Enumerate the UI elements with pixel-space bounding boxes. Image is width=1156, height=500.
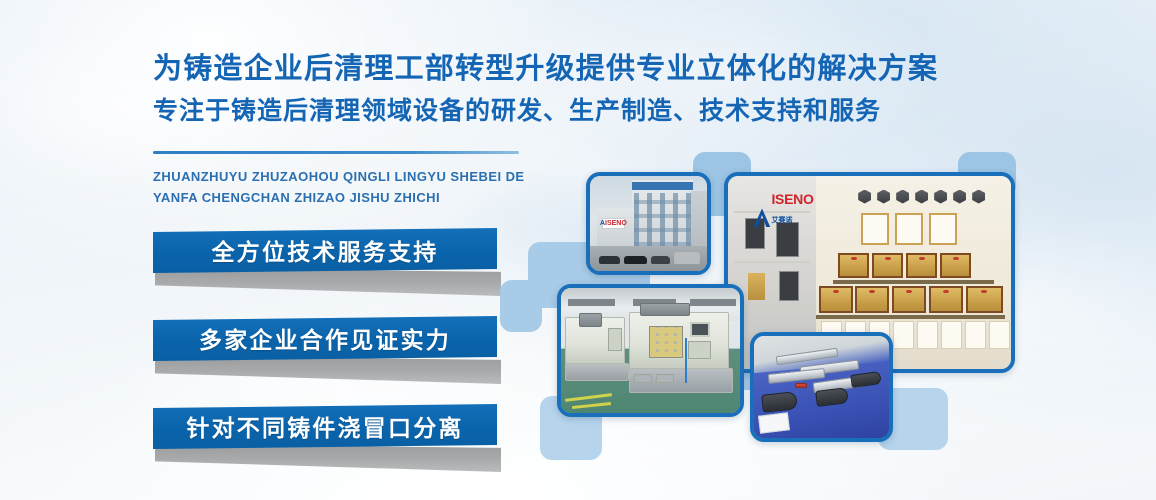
deco-square-far-left: [500, 280, 542, 332]
showroom-display-frame: [779, 271, 799, 302]
feature-bar-2-body[interactable]: 多家企业合作见证实力: [153, 316, 497, 361]
photo-gripper-inner: [754, 336, 889, 438]
feature-bar-2-label: 多家企业合作见证实力: [199, 321, 451, 355]
building-roof-band: [632, 182, 693, 191]
cnc-machine-left-base: [565, 363, 629, 381]
framed-certificate: [929, 213, 957, 246]
building-right-block: [691, 191, 707, 250]
gold-plaque: [940, 253, 971, 278]
headline-line1: 为铸造企业后清理工部转型升级提供专业立体化的解决方案: [153, 50, 993, 88]
pinyin-line2: YANFA CHENGCHAN ZHIZAO JISHU ZHICHI: [153, 187, 573, 208]
feature-bar-1-label: 全方位技术服务支持: [212, 233, 439, 267]
headline-block: 为铸造企业后清理工部转型升级提供专业立体化的解决方案 专注于铸造后清理领域设备的…: [153, 50, 993, 129]
cnc-cable: [685, 338, 687, 383]
photo-cnc-workshop[interactable]: [557, 284, 744, 417]
aiseno-wordmark: ISENO: [771, 191, 813, 207]
medallion-icon: [896, 190, 909, 204]
plaque-rail: [816, 315, 1006, 319]
feature-bar-3-body[interactable]: 针对不同铸件浇冒口分离: [153, 404, 497, 449]
gold-plaque: [855, 286, 889, 313]
parked-car: [624, 256, 647, 265]
medallion-icon: [877, 190, 890, 204]
small-certificate: [989, 321, 1010, 349]
building-left-block: [597, 208, 634, 250]
medallion-icon: [915, 190, 928, 204]
headline-divider: [153, 151, 519, 154]
gold-plaque: [966, 286, 1003, 313]
gold-plaque: [819, 286, 853, 313]
parked-car: [651, 256, 670, 265]
showroom-shelf: [734, 261, 810, 263]
parked-car: [599, 256, 620, 265]
pinyin-line1: ZHUANZHUYU ZHUZAOHOU QINGLI LINGYU SHEBE…: [153, 166, 573, 187]
gold-plaque: [906, 253, 937, 278]
medallion-icon: [934, 190, 947, 204]
small-certificate: [917, 321, 938, 349]
photo-factory-building[interactable]: A ISENO: [586, 172, 711, 275]
photo-factory-building-inner: A ISENO: [590, 176, 707, 271]
small-certificate: [893, 321, 914, 349]
framed-certificate: [861, 213, 889, 246]
cnc-machine-left-head: [579, 313, 602, 327]
feature-bar-2[interactable]: 多家企业合作见证实力: [153, 316, 501, 392]
gripper-red-label: [795, 383, 807, 388]
cnc-machine-right-head: [640, 303, 690, 316]
parked-truck: [674, 252, 700, 264]
gold-plaque: [838, 253, 869, 278]
ceiling-beam: [568, 299, 615, 305]
cnc-left-panel: [608, 328, 622, 351]
showroom-medallion-row: [858, 190, 985, 204]
cnc-button-panel: [649, 326, 683, 359]
plaque-rail: [833, 280, 994, 284]
framed-certificate: [895, 213, 923, 246]
feature-bar-1-body[interactable]: 全方位技术服务支持: [153, 228, 497, 273]
showroom-display-frame: [776, 222, 799, 257]
spec-sheet-paper: [758, 412, 790, 434]
gold-plaque: [872, 253, 903, 278]
photo-cnc-inner: [561, 288, 740, 413]
medallion-icon: [953, 190, 966, 204]
feature-bar-list: 全方位技术服务支持 多家企业合作见证实力 针对不同铸件浇冒口分离: [153, 228, 501, 480]
showroom-shelf: [734, 307, 810, 310]
cnc-side-panel: [688, 341, 711, 360]
feature-bar-3[interactable]: 针对不同铸件浇冒口分离: [153, 404, 501, 480]
aiseno-a-glyph: [753, 208, 770, 227]
gold-plaque: [929, 286, 963, 313]
showroom-gold-trophy: [748, 273, 765, 300]
building-logo-sign: A ISENO: [602, 218, 625, 229]
headline-line2: 专注于铸造后清理领域设备的研发、生产制造、技术支持和服务: [153, 94, 993, 129]
feature-bar-3-label: 针对不同铸件浇冒口分离: [186, 409, 463, 443]
gold-plaque: [892, 286, 926, 313]
small-certificate: [965, 321, 986, 349]
building-window-grid: [634, 193, 690, 246]
small-certificate: [941, 321, 962, 349]
cnc-drawer: [634, 374, 652, 383]
ceiling-beam: [690, 299, 737, 305]
medallion-icon: [972, 190, 985, 204]
medallion-icon: [858, 190, 871, 204]
feature-bar-1[interactable]: 全方位技术服务支持: [153, 228, 501, 304]
building-sign-word: ISENO: [605, 220, 627, 227]
banner-stage: 为铸造企业后清理工部转型升级提供专业立体化的解决方案 专注于铸造后清理领域设备的…: [0, 0, 1156, 500]
cnc-control-screen: [690, 322, 710, 337]
cnc-drawer: [656, 374, 674, 383]
photo-gripper-products[interactable]: [750, 332, 893, 442]
showroom-aiseno-logo: ISENO 艾赛诺: [753, 191, 813, 227]
aiseno-chinese-name: 艾赛诺: [771, 217, 792, 224]
pinyin-block: ZHUANZHUYU ZHUZAOHOU QINGLI LINGYU SHEBE…: [153, 166, 573, 208]
